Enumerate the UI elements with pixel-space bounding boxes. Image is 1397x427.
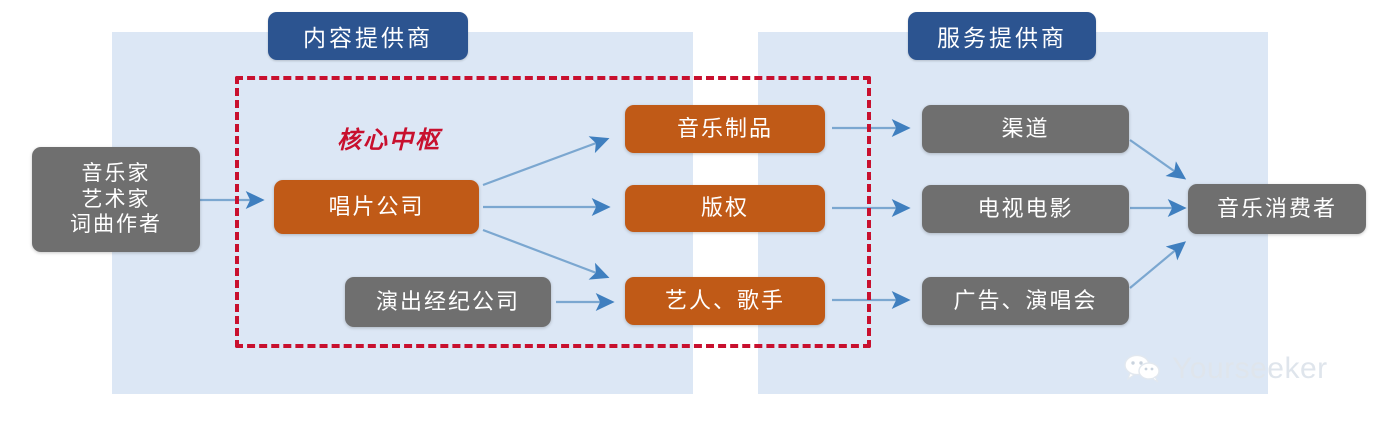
node-channel[interactable]: 渠道 (922, 105, 1129, 153)
header-content-provider-label: 内容提供商 (303, 19, 433, 53)
watermark: Yourseeker (1124, 352, 1328, 386)
core-hub-label: 核心中枢 (337, 120, 441, 155)
node-artists[interactable]: 艺人、歌手 (625, 277, 825, 325)
node-agency-text: 演出经纪公司 (376, 289, 520, 316)
node-record-label-text: 唱片公司 (328, 194, 424, 221)
node-creators[interactable]: 音乐家 艺术家 词曲作者 (32, 147, 200, 252)
node-tv-film-text: 电视电影 (977, 196, 1073, 223)
node-creators-line-1: 音乐家 (82, 161, 151, 187)
header-service-provider[interactable]: 服务提供商 (908, 12, 1096, 60)
node-consumers[interactable]: 音乐消费者 (1188, 184, 1366, 234)
node-copyright-text: 版权 (701, 195, 749, 222)
node-tv-film[interactable]: 电视电影 (922, 185, 1129, 233)
node-channel-text: 渠道 (1001, 116, 1049, 143)
node-consumers-text: 音乐消费者 (1217, 196, 1337, 223)
node-ads-concert-text: 广告、演唱会 (953, 288, 1097, 315)
node-artists-text: 艺人、歌手 (665, 288, 785, 315)
node-copyright[interactable]: 版权 (625, 185, 825, 232)
node-products[interactable]: 音乐制品 (625, 105, 825, 153)
node-creators-line-3: 词曲作者 (70, 212, 162, 238)
wechat-icon (1124, 354, 1162, 384)
node-agency[interactable]: 演出经纪公司 (345, 277, 551, 327)
node-ads-concert[interactable]: 广告、演唱会 (922, 277, 1129, 325)
diagram-canvas: 内容提供商 服务提供商 核心中枢 音乐家 艺术家 词曲作者 唱片公司 演出经纪公… (0, 0, 1397, 427)
node-record-label[interactable]: 唱片公司 (274, 180, 479, 234)
header-content-provider[interactable]: 内容提供商 (268, 12, 468, 60)
node-products-text: 音乐制品 (677, 116, 773, 143)
header-service-provider-label: 服务提供商 (937, 19, 1067, 53)
watermark-text: Yourseeker (1172, 352, 1328, 386)
node-creators-line-2: 艺术家 (82, 187, 151, 213)
